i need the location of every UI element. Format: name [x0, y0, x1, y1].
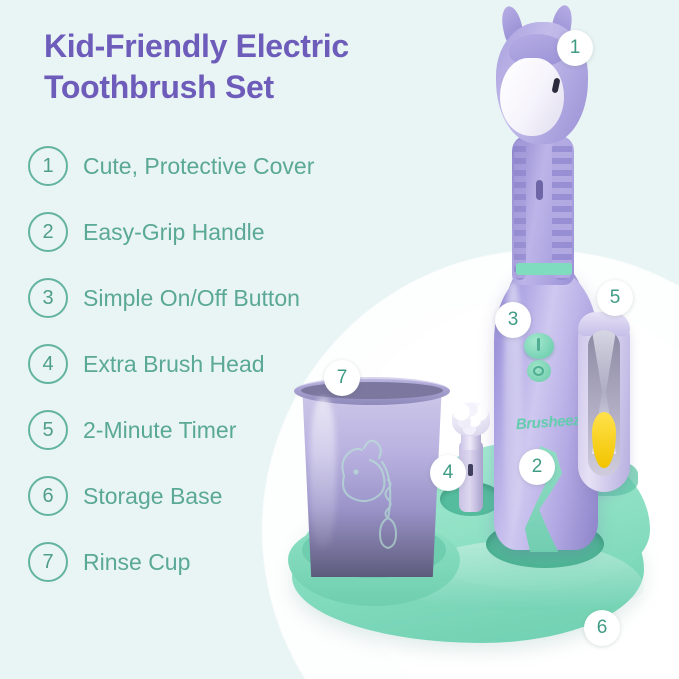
callout-badge-4: 4	[430, 455, 466, 491]
rinse-cup-rim-inner	[301, 382, 443, 399]
mode-button-icon	[533, 366, 544, 376]
timer-window	[588, 330, 620, 476]
protective-cover-ridge-right	[552, 140, 572, 280]
extra-brush-head-bristles	[452, 402, 490, 436]
power-button-icon	[537, 338, 540, 351]
protective-cover-slot	[536, 180, 543, 200]
callout-badge-7: 7	[324, 360, 360, 396]
callout-badge-1: 1	[557, 30, 593, 66]
timer-upper-bulb	[588, 330, 620, 392]
callout-badge-6: 6	[584, 610, 620, 646]
product-illustration: Brusheez	[0, 0, 679, 679]
callout-badge-2: 2	[519, 449, 555, 485]
protective-cover-ridge-left	[514, 140, 526, 280]
product-infographic: Kid-Friendly Electric Toothbrush Set 1 C…	[0, 0, 679, 679]
callout-badge-3: 3	[495, 302, 531, 338]
protective-cover-mint-ring	[516, 263, 572, 275]
rinse-cup-highlight	[310, 398, 336, 548]
llama-snout	[500, 58, 564, 136]
callout-badge-5: 5	[597, 280, 633, 316]
extra-brush-head-marker	[468, 464, 473, 476]
cup-llama-artwork	[330, 432, 426, 562]
timer-sand	[592, 412, 616, 468]
